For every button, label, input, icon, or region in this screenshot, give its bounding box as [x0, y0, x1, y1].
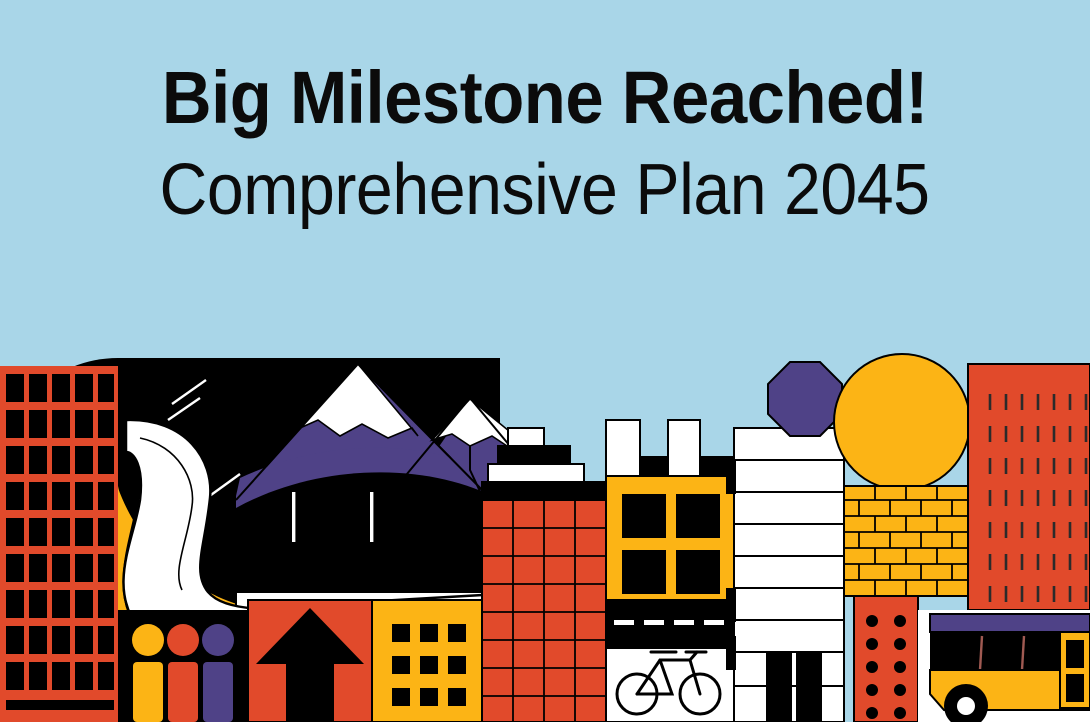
pedestrian-body-yellow [133, 662, 163, 722]
brick-wall [844, 486, 968, 596]
sun-circle [834, 354, 970, 490]
striped-building-door-right [796, 652, 822, 722]
chimney-right-top [668, 420, 700, 476]
dashed-red-tower [968, 364, 1090, 610]
bus-door-pane-lower [1066, 674, 1084, 702]
pedestrian-head-red [167, 624, 199, 656]
lane-dash-2b [370, 492, 373, 542]
striped-edge-accent-2 [726, 588, 736, 622]
ziggurat-layer-black-2 [482, 482, 606, 500]
octagon [768, 362, 842, 436]
pedestrian-body-red [168, 662, 198, 722]
striped-building-door-left [766, 652, 792, 722]
dotted-panel-body [854, 596, 918, 722]
dashed-tower-body [968, 364, 1090, 610]
bus-door-pane-upper [1066, 640, 1084, 668]
pedestrian-body-purple [203, 662, 233, 722]
baseline-accent-left [0, 714, 118, 722]
lane-dash-1b [292, 492, 295, 542]
chimney-left-top [606, 420, 640, 476]
bus-wheel-hub [957, 697, 975, 715]
city-bus [918, 610, 1090, 722]
pedestrian-group [118, 610, 248, 722]
bus-roof [930, 614, 1090, 632]
grid-tower [0, 366, 118, 722]
pedestrian-head-yellow [132, 624, 164, 656]
terrain-mask [236, 472, 500, 596]
poster-canvas: Big Milestone Reached! Comprehensive Pla… [0, 0, 1090, 722]
striped-building [726, 428, 844, 722]
cityscape-illustration [0, 0, 1090, 722]
striped-edge-accent-1 [726, 460, 736, 494]
arrow-up-panel [248, 600, 372, 722]
ziggurat-layer-black-1 [498, 446, 570, 464]
striped-edge-accent-3 [726, 636, 736, 670]
pedestrian-head-purple [202, 624, 234, 656]
dotted-red-panel [854, 596, 918, 722]
yellow-block-building [372, 600, 486, 722]
bike-lane [606, 600, 734, 722]
ziggurat-layer-white-2 [488, 464, 584, 482]
yellow-block-windows [392, 624, 466, 706]
ziggurat-layer-white-1 [508, 428, 544, 446]
